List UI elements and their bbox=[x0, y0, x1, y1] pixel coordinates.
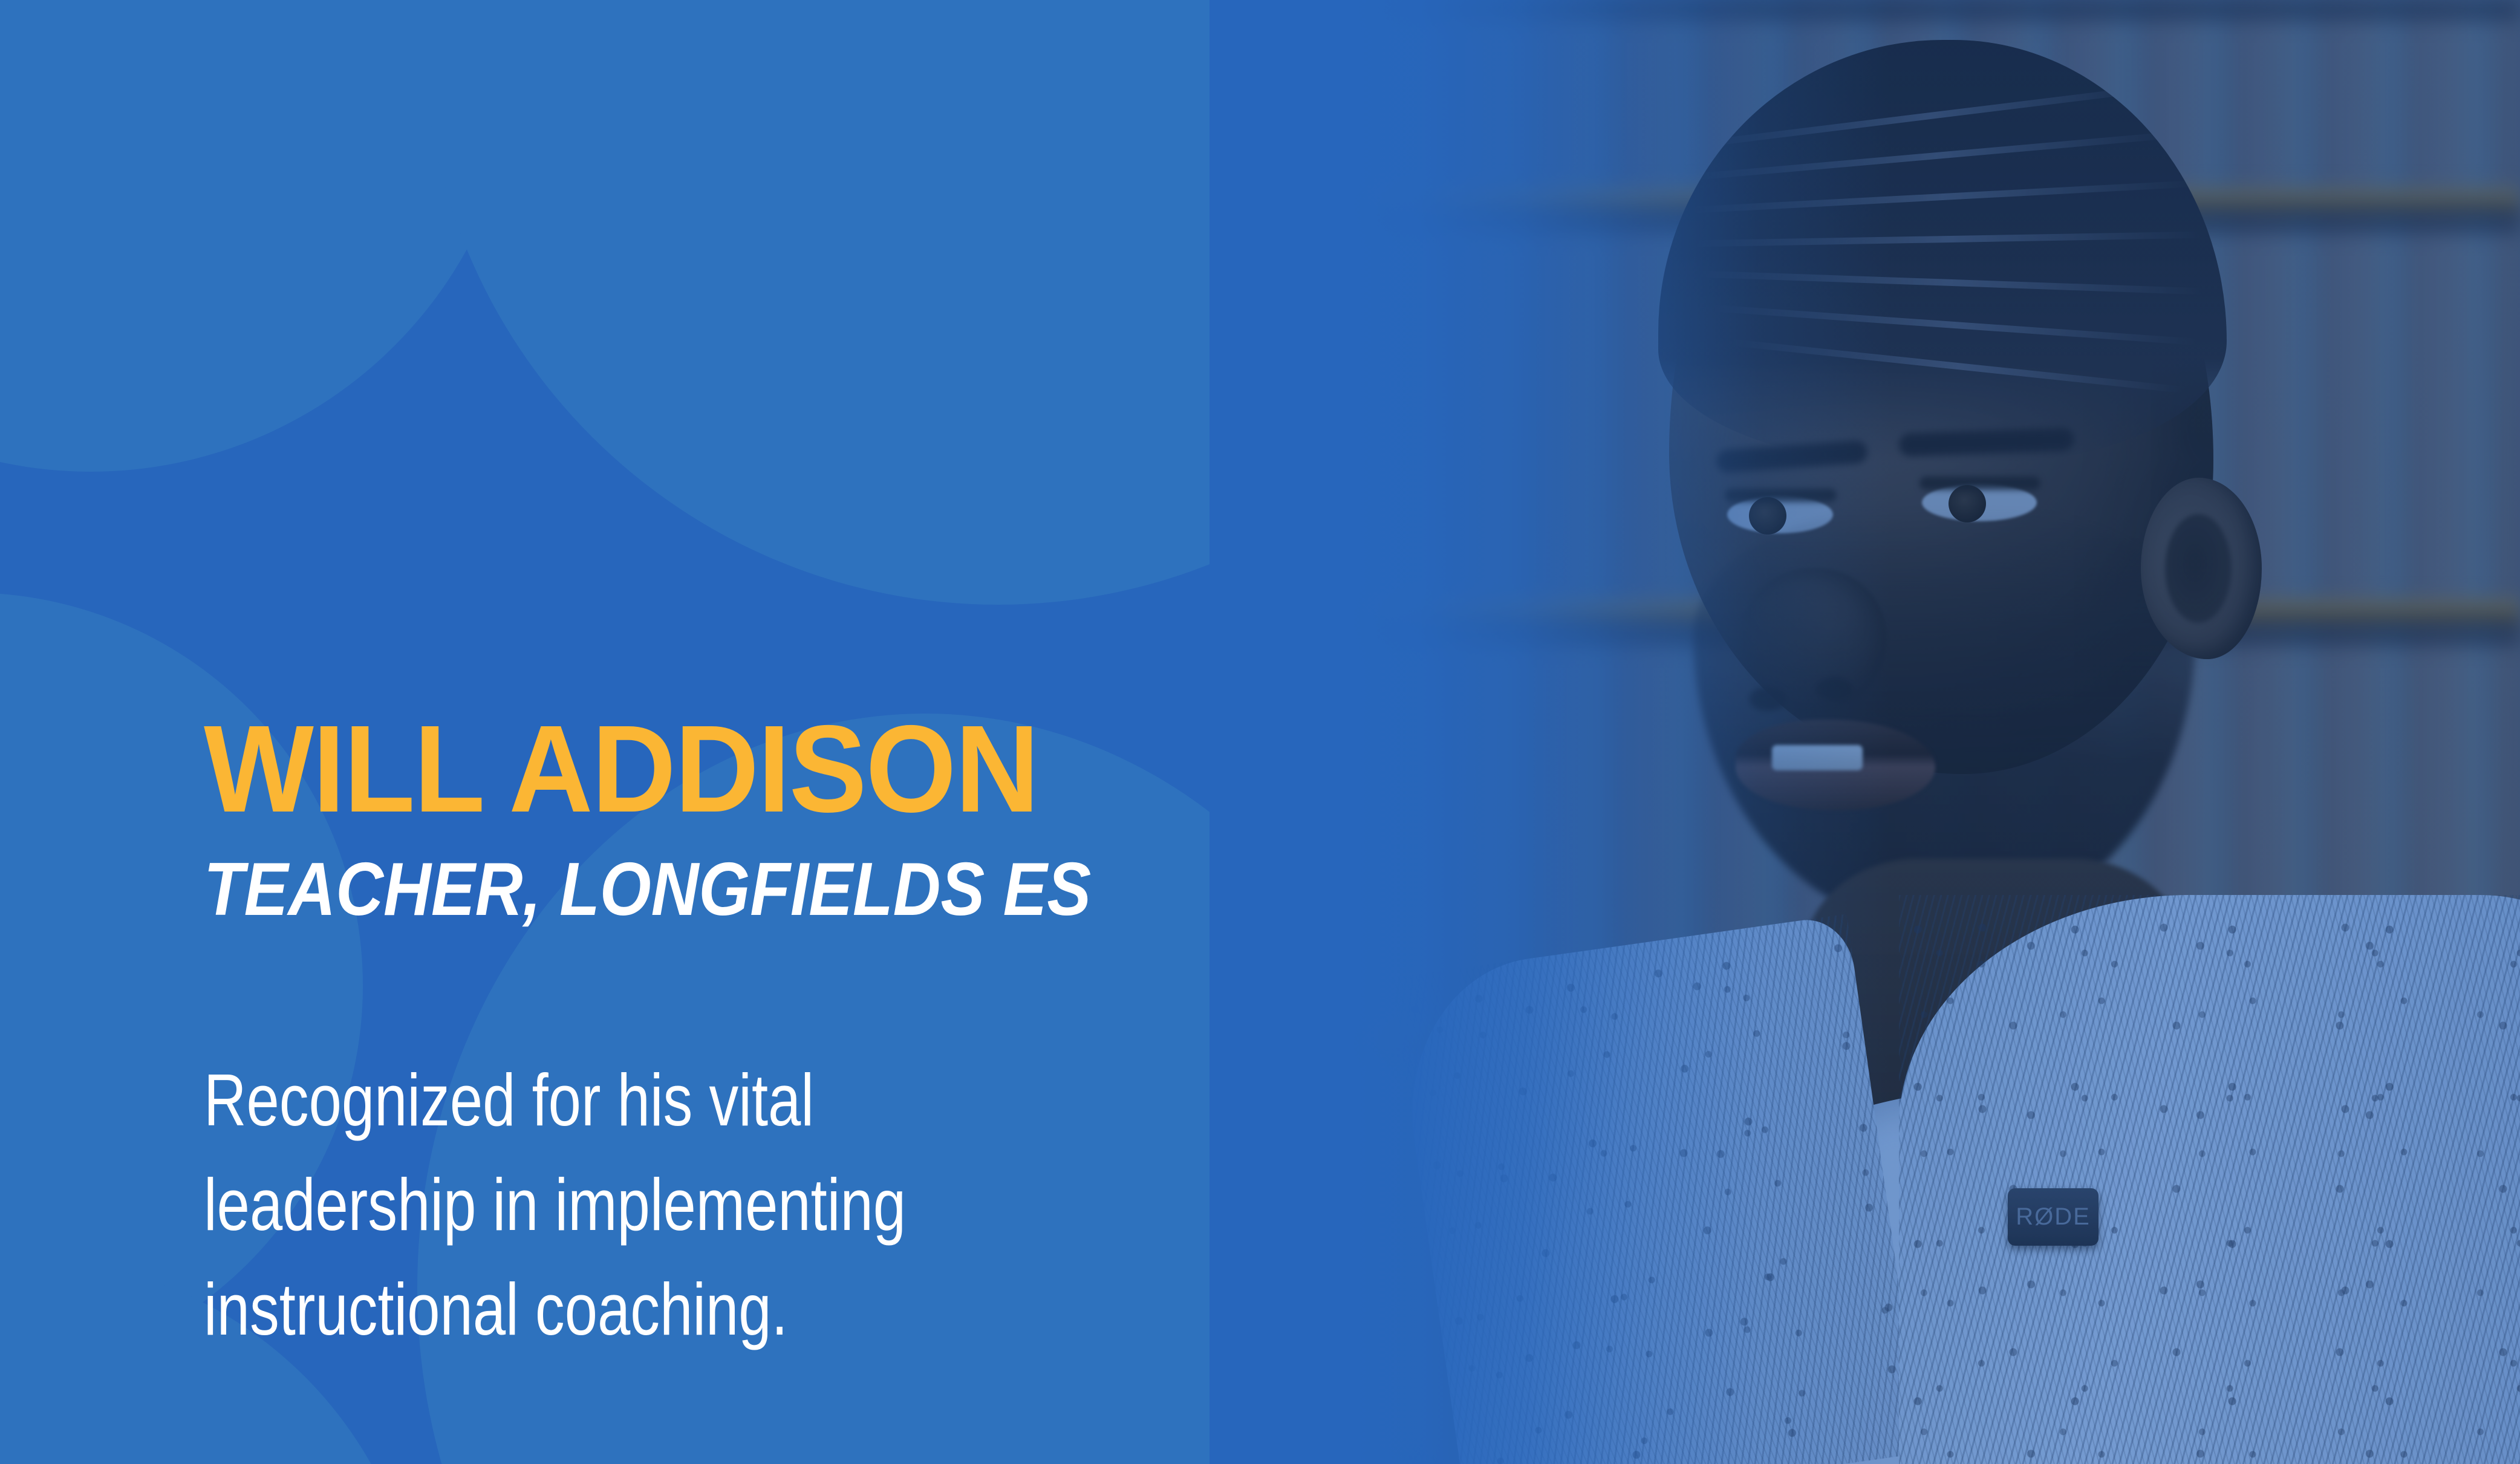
person-name: WILL ADDISON bbox=[204, 714, 1113, 825]
text-block: WILL ADDISON TEACHER, LONGFIELDS ES Reco… bbox=[204, 714, 1171, 1362]
portrait-photo: RØDE bbox=[1210, 0, 2520, 1464]
recognition-description: Recognized for his vital leadership in i… bbox=[204, 1048, 978, 1362]
photo-left-fade bbox=[1210, 0, 2520, 1464]
person-role: TEACHER, LONGFIELDS ES bbox=[204, 852, 1055, 927]
recognition-card: RØDE WILL ADDISON TEACHER, LONGFIELDS ES… bbox=[0, 0, 2520, 1464]
